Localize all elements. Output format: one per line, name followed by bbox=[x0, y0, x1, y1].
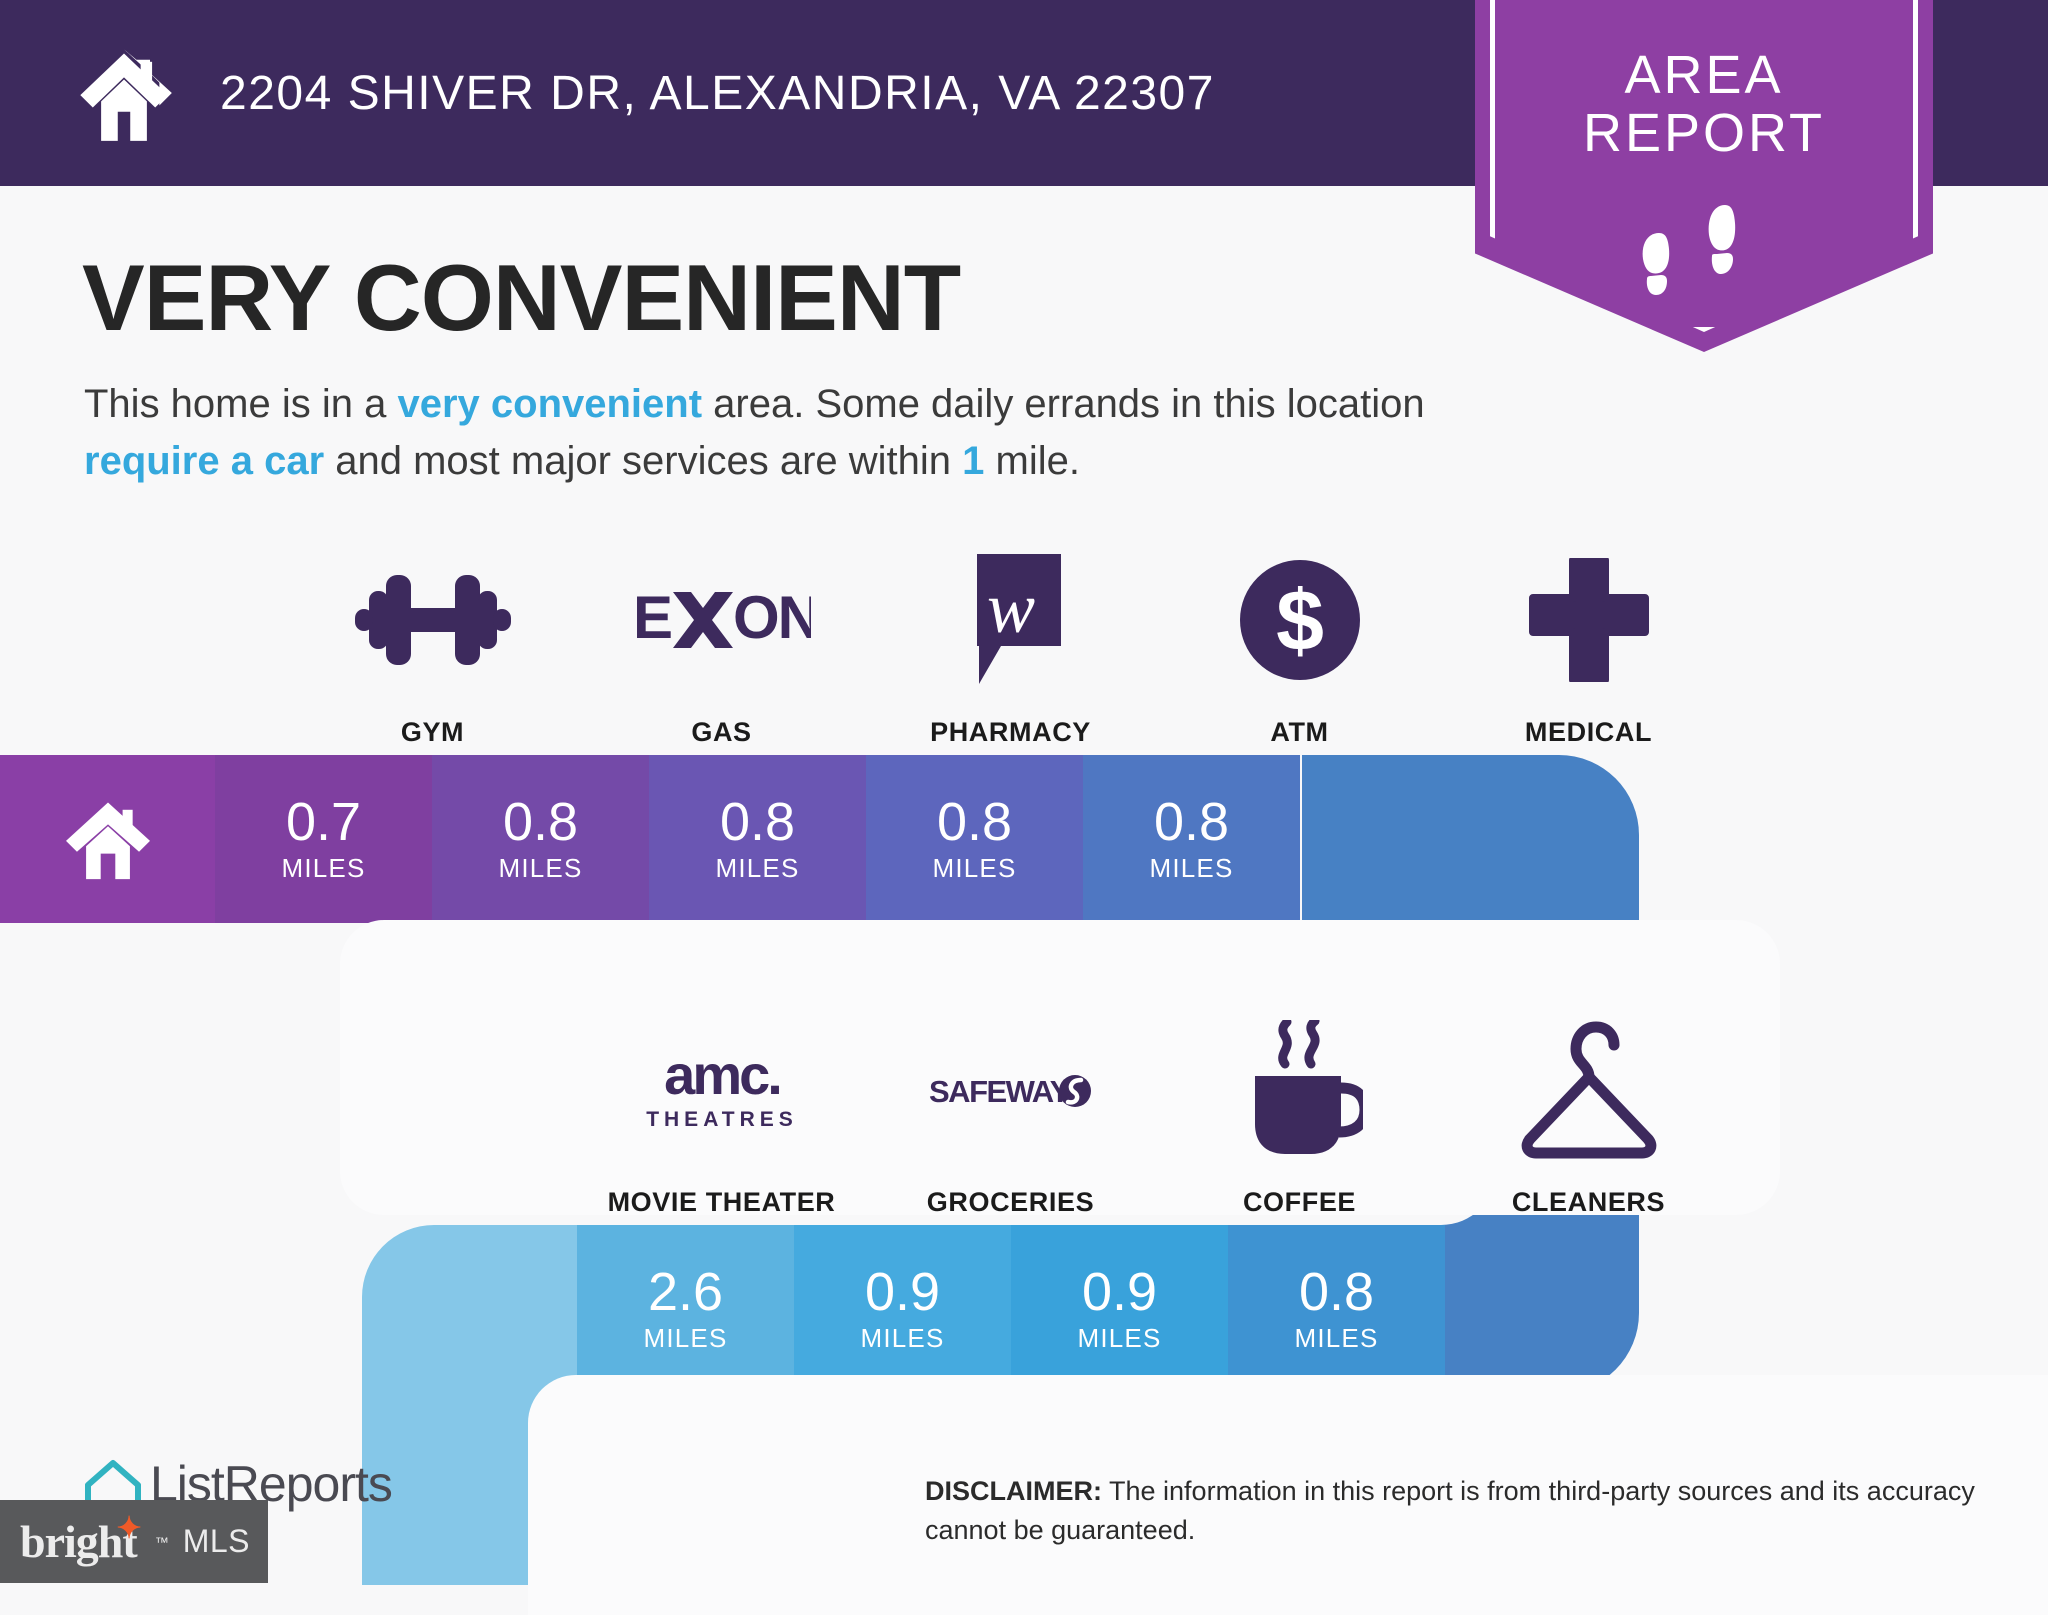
coffee-cup-icon bbox=[1237, 1015, 1363, 1165]
dollar-circle-icon: $ bbox=[1237, 545, 1363, 695]
footprints-icon bbox=[1475, 195, 1933, 305]
headline: VERY CONVENIENT bbox=[82, 248, 960, 348]
distance-unit: MILES bbox=[1149, 853, 1233, 884]
sentence-emphasis-1: very convenient bbox=[397, 382, 702, 426]
distance-value: 0.7 bbox=[286, 795, 361, 849]
amenity-label: CLEANERS bbox=[1512, 1187, 1665, 1218]
distance-cell-atm: 0.8 MILES bbox=[866, 755, 1083, 923]
distance-value: 0.8 bbox=[720, 795, 795, 849]
amenity-label: GROCERIES bbox=[927, 1187, 1094, 1218]
amenity-coffee: COFFEE bbox=[1155, 1015, 1444, 1218]
exxon-logo: E ON bbox=[633, 545, 811, 695]
sentence-part-2: area. Some daily errands in this locatio… bbox=[702, 382, 1425, 426]
amenity-pharmacy: w PHARMACY bbox=[866, 545, 1155, 748]
distance-cell-pharmacy: 0.8 MILES bbox=[649, 755, 866, 923]
sentence-part-1: This home is in a bbox=[84, 382, 397, 426]
sentence-part-4: mile. bbox=[984, 439, 1080, 483]
svg-text:w: w bbox=[987, 568, 1035, 648]
distance-unit: MILES bbox=[498, 853, 582, 884]
bright-mls-logo: bright ✦ ™ MLS bbox=[0, 1500, 268, 1583]
distance-unit: MILES bbox=[932, 853, 1016, 884]
distance-cell-movie-theater: 2.6 MILES bbox=[577, 1225, 794, 1393]
amenity-label: ATM bbox=[1270, 717, 1328, 748]
amenity-icon-row-2: amc. THEATRES MOVIE THEATER SAFEWAY GROC… bbox=[577, 1015, 1733, 1218]
distance-value: 0.9 bbox=[865, 1265, 940, 1319]
svg-text:amc.: amc. bbox=[664, 1044, 780, 1106]
walgreens-logo: w bbox=[957, 545, 1065, 695]
amenity-icon-row-1: GYM E ON GAS w PHARMACY $ A bbox=[288, 545, 1733, 748]
house-icon bbox=[62, 797, 154, 881]
amenity-cleaners: CLEANERS bbox=[1444, 1015, 1733, 1218]
distance-unit: MILES bbox=[715, 853, 799, 884]
distance-cell-groceries: 0.9 MILES bbox=[794, 1225, 1011, 1393]
amenity-label: MEDICAL bbox=[1525, 717, 1652, 748]
sentence-part-3: and most major services are within bbox=[324, 439, 962, 483]
amc-logo: amc. THEATRES bbox=[642, 1015, 802, 1165]
amenity-label: GYM bbox=[401, 717, 464, 748]
amenity-atm: $ ATM bbox=[1155, 545, 1444, 748]
mls-brand: bright ✦ bbox=[20, 1515, 137, 1568]
distance-value: 0.9 bbox=[1082, 1265, 1157, 1319]
amenity-label: PHARMACY bbox=[930, 717, 1091, 748]
sentence-emphasis-3: 1 bbox=[962, 439, 984, 483]
hanger-icon bbox=[1514, 1015, 1664, 1165]
safeway-logo: SAFEWAY bbox=[929, 1015, 1093, 1165]
svg-text:E: E bbox=[633, 584, 671, 651]
amenity-gym: GYM bbox=[288, 545, 577, 748]
distance-value: 0.8 bbox=[503, 795, 578, 849]
distance-cell-coffee: 0.9 MILES bbox=[1011, 1225, 1228, 1393]
disclaimer-label: DISCLAIMER: bbox=[925, 1476, 1102, 1506]
amenity-label: GAS bbox=[691, 717, 751, 748]
sentence-emphasis-2: require a car bbox=[84, 439, 324, 483]
distance-unit: MILES bbox=[1077, 1323, 1161, 1354]
distance-value: 2.6 bbox=[648, 1265, 723, 1319]
medical-cross-icon bbox=[1527, 545, 1651, 695]
amenity-groceries: SAFEWAY GROCERIES bbox=[866, 1015, 1155, 1218]
disclaimer: DISCLAIMER: The information in this repo… bbox=[925, 1472, 2005, 1550]
page-title: 2204 SHIVER DR, ALEXANDRIA, VA 22307 bbox=[220, 66, 1215, 121]
amenity-label: MOVIE THEATER bbox=[608, 1187, 836, 1218]
mls-suffix: MLS bbox=[183, 1523, 250, 1560]
distance-value: 0.8 bbox=[937, 795, 1012, 849]
distance-cell-gym: 0.7 MILES bbox=[215, 755, 432, 923]
distance-unit: MILES bbox=[643, 1323, 727, 1354]
distance-cell-medical: 0.8 MILES bbox=[1083, 755, 1300, 923]
badge-line-2: REPORT bbox=[1475, 104, 1933, 162]
amenity-movie-theater: amc. THEATRES MOVIE THEATER bbox=[577, 1015, 866, 1218]
distance-value: 0.8 bbox=[1154, 795, 1229, 849]
amenity-medical: MEDICAL bbox=[1444, 545, 1733, 748]
svg-text:THEATRES: THEATRES bbox=[646, 1108, 798, 1131]
distance-cell-gas: 0.8 MILES bbox=[432, 755, 649, 923]
svg-text:$: $ bbox=[1276, 573, 1324, 669]
star-icon: ✦ bbox=[117, 1511, 141, 1546]
summary-sentence: This home is in a very convenient area. … bbox=[84, 376, 1484, 490]
svg-text:ON: ON bbox=[733, 584, 811, 651]
house-icon bbox=[72, 41, 176, 145]
dumbbell-icon bbox=[353, 545, 513, 695]
ribbon-home-cell bbox=[0, 755, 215, 923]
mls-trademark: ™ bbox=[155, 1534, 169, 1550]
distance-unit: MILES bbox=[281, 853, 365, 884]
svg-text:SAFEWAY: SAFEWAY bbox=[929, 1074, 1071, 1109]
distance-unit: MILES bbox=[860, 1323, 944, 1354]
amenity-gas: E ON GAS bbox=[577, 545, 866, 748]
amenity-label: COFFEE bbox=[1243, 1187, 1356, 1218]
distance-value: 0.8 bbox=[1299, 1265, 1374, 1319]
area-report-badge-text: AREA REPORT bbox=[1475, 46, 1933, 162]
badge-line-1: AREA bbox=[1475, 46, 1933, 104]
distance-cell-cleaners: 0.8 MILES bbox=[1228, 1225, 1445, 1393]
distance-unit: MILES bbox=[1294, 1323, 1378, 1354]
